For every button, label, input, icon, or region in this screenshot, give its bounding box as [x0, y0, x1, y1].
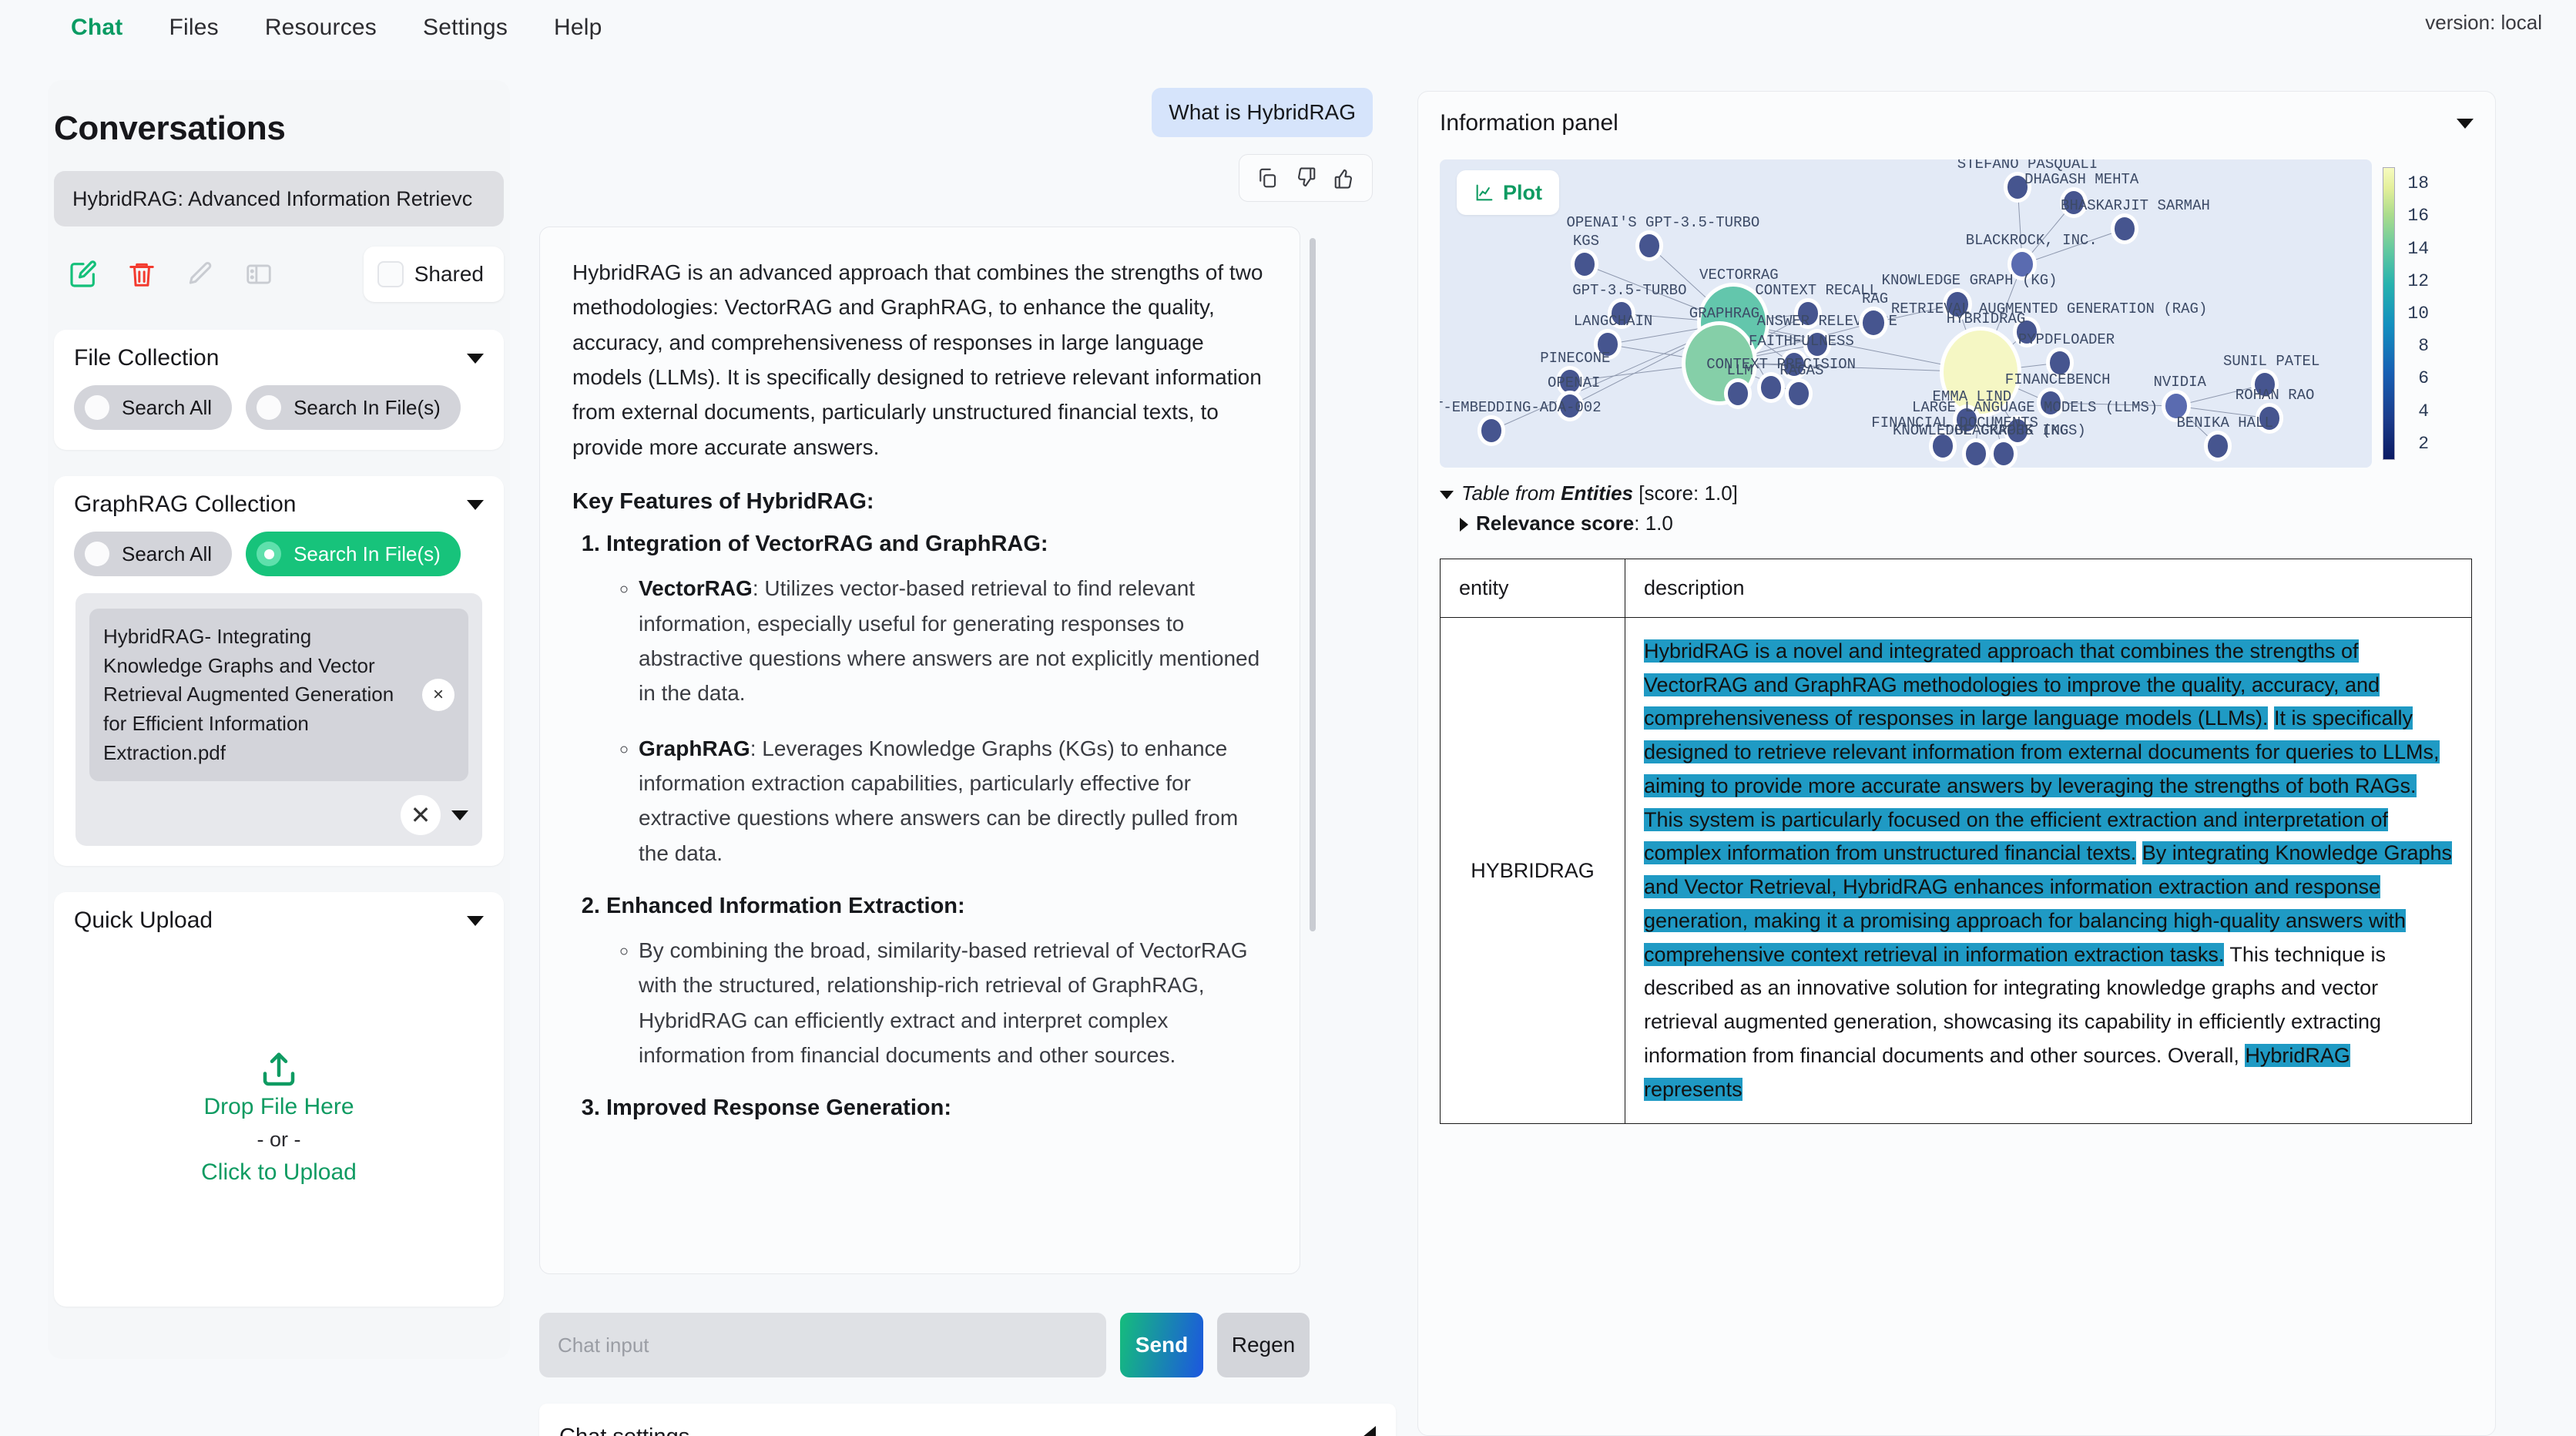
list-item: GraphRAG: Leverages Knowledge Graphs (KG… [639, 731, 1267, 871]
plot-button[interactable]: Plot [1457, 170, 1559, 215]
graph-node-label: PINECONE [1540, 350, 1610, 367]
colorbar-tick-label: 4 [2418, 401, 2429, 421]
radio-dot-icon [85, 395, 109, 420]
remove-file-button[interactable]: × [422, 679, 454, 711]
graph-node[interactable] [1863, 310, 1884, 335]
chevron-left-icon[interactable] [1363, 1426, 1376, 1436]
sub-bold-label: GraphRAG [639, 736, 750, 760]
thumbs-up-icon[interactable] [1327, 161, 1361, 195]
quick-upload-title: Quick Upload [74, 908, 213, 934]
radio-dot-icon [257, 542, 281, 566]
graph-node[interactable] [1575, 253, 1595, 275]
feature-sublist: By combining the broad, similarity-based… [639, 933, 1267, 1072]
graphrag-search-in-files[interactable]: Search In File(s) [246, 532, 461, 576]
graph-node-label: OPENAI'S GPT-3.5-TURBO [1566, 214, 1759, 231]
file-collection-search-all-label: Search All [122, 396, 212, 420]
graph-node-label: SUNIL PATEL [2223, 353, 2319, 370]
graph-node-label: BENIKA HALL [2176, 414, 2272, 431]
selected-file-chip[interactable]: HybridRAG- Integrating Knowledge Graphs … [89, 609, 468, 781]
graph-node-label: RETRIEVAL AUGMENTED GENERATION (RAG) [1891, 300, 2207, 317]
file-collection-search-in-files[interactable]: Search In File(s) [246, 385, 461, 430]
graph-node[interactable] [1728, 382, 1748, 404]
list-item: Enhanced Information Extraction: By comb… [606, 894, 1267, 1072]
graphrag-search-in-files-label: Search In File(s) [293, 542, 441, 566]
graph-node[interactable] [1481, 419, 1501, 441]
relevance-score-label: Relevance score [1476, 512, 1634, 535]
colorbar-tick-label: 16 [2407, 206, 2429, 226]
plain-text [2136, 841, 2142, 864]
assistant-features-heading: Key Features of HybridRAG: [572, 489, 1267, 515]
file-collection-card: File Collection Search All Search In Fil… [54, 330, 504, 450]
send-button[interactable]: Send [1120, 1313, 1203, 1377]
chat-input[interactable] [539, 1313, 1106, 1377]
quick-upload-header[interactable]: Quick Upload [74, 908, 484, 934]
assistant-feature-list: Integration of VectorRAG and GraphRAG: V… [606, 532, 1267, 1121]
entities-table-body: HYBRIDRAGHybridRAG is a novel and integr… [1441, 618, 2472, 1124]
plain-text [2268, 706, 2274, 730]
assistant-message: HybridRAG is an advanced approach that c… [539, 226, 1300, 1274]
click-to-upload-link[interactable]: Click to Upload [201, 1159, 357, 1186]
nav-item-files[interactable]: Files [146, 15, 241, 41]
conversation-toolbar: Shared [54, 245, 504, 304]
column-header-entity: entity [1441, 559, 1625, 618]
graph-node-label: HYBRIDRAG [1947, 310, 2026, 327]
graph-node-label: ROHAN RAO [2236, 387, 2315, 404]
assistant-intro: HybridRAG is an advanced approach that c… [572, 255, 1267, 465]
colorbar-tick-label: 8 [2418, 336, 2429, 356]
graph-node-label: LANGCHAIN [1574, 313, 1653, 330]
chevron-down-icon[interactable] [451, 810, 468, 820]
graph-node-label: LARGE LANGUAGE MODELS (LLMS) [1912, 399, 2158, 416]
information-panel-header[interactable]: Information panel [1440, 110, 2474, 136]
feature-title: Improved Response Generation: [606, 1095, 951, 1120]
regen-button[interactable]: Regen [1217, 1313, 1310, 1377]
information-panel-title: Information panel [1440, 110, 1618, 136]
chat-settings-label: Chat settings [559, 1424, 689, 1436]
list-item: Integration of VectorRAG and GraphRAG: V… [606, 532, 1267, 871]
nav-item-resources[interactable]: Resources [242, 15, 400, 41]
colorbar-tick-label: 12 [2407, 271, 2429, 291]
plot-icon [1474, 182, 1495, 203]
list-item: Improved Response Generation: [606, 1095, 1267, 1121]
graphrag-collection-card: GraphRAG Collection Search All Search In… [54, 476, 504, 866]
graphrag-collection-options: Search All Search In File(s) [74, 532, 484, 576]
graph-node-label: PYPDFLOADER [2018, 331, 2115, 348]
graph-node-label: GPT-3.5-TURBO [1572, 282, 1686, 299]
file-collection-search-in-files-label: Search In File(s) [293, 396, 441, 420]
list-item: VectorRAG: Utilizes vector-based retriev… [639, 571, 1267, 710]
chat-input-row: Send Regen [539, 1313, 1310, 1377]
thumbs-down-icon[interactable] [1289, 161, 1323, 195]
file-collection-options: Search All Search In File(s) [74, 385, 484, 430]
graph-node-label: BLACKROCK, INC. [1966, 232, 2098, 249]
chat-settings-panel[interactable]: Chat settings [539, 1404, 1396, 1436]
graph-node[interactable] [2050, 351, 2070, 374]
entity-cell: HYBRIDRAG [1441, 618, 1625, 1124]
graph-node-label: FINANCEBENCH [2005, 371, 2111, 388]
shared-toggle[interactable]: Shared [364, 247, 504, 302]
drop-file-label: Drop File Here [203, 1094, 354, 1120]
table-source-line[interactable]: Table from Entities [score: 1.0] [1440, 481, 2474, 505]
graph-node-label: KNOWLEDGE GRAPH (KG) [1882, 272, 2058, 289]
colorbar [2383, 167, 2395, 460]
delete-chat-button[interactable] [112, 245, 171, 304]
upload-or-label: - or - [257, 1128, 301, 1152]
table-header-row: entity description [1441, 559, 2472, 618]
colorbar-tick-label: 2 [2418, 434, 2429, 454]
nav-item-settings[interactable]: Settings [400, 15, 531, 41]
graph-node-label: NVIDIA [2154, 374, 2206, 391]
selected-file-name: HybridRAG- Integrating Knowledge Graphs … [103, 622, 413, 767]
graph-node-label: DHAGASH MEHTA [2024, 171, 2138, 188]
graph-node[interactable] [1966, 442, 1986, 465]
table-row: HYBRIDRAGHybridRAG is a novel and integr… [1441, 618, 2472, 1124]
chevron-down-icon[interactable] [2457, 119, 2474, 129]
message-actions-toolbar [1239, 154, 1373, 202]
relevance-score-line[interactable]: Relevance score: 1.0 [1440, 512, 2474, 535]
selected-files-footer: ✕ [89, 795, 468, 835]
chat-scrollbar[interactable] [1310, 238, 1316, 931]
colorbar-tick-label: 10 [2407, 304, 2429, 324]
sidebar: Conversations HybridRAG: Advanced Inform… [48, 80, 510, 1359]
nav-item-chat[interactable]: Chat [48, 15, 146, 41]
selected-files-box: HybridRAG- Integrating Knowledge Graphs … [75, 593, 482, 846]
column-header-description: description [1625, 559, 2472, 618]
information-panel: Information panel STEFANO PASQUALIDHAGAS… [1417, 91, 2496, 1436]
file-collection-search-all[interactable]: Search All [74, 385, 232, 430]
table-from-source: Entities [1561, 481, 1633, 505]
description-cell: HybridRAG is a novel and integrated appr… [1625, 618, 2472, 1124]
graph-node-label: LLM [1727, 362, 1753, 379]
graph-node-label: BHASKARJIT SARMAH [2061, 197, 2210, 214]
colorbar-tick-label: 14 [2407, 239, 2429, 259]
app-root: Chat Files Resources Settings Help versi… [0, 0, 2576, 1436]
graph-node-label: VECTORRAG [1699, 267, 1779, 284]
graph-node-label: TEXT-EMBEDDING-ADA-002 [1440, 399, 1602, 416]
clear-all-files-button[interactable]: ✕ [401, 795, 441, 835]
file-dropzone[interactable]: Drop File Here - or - Click to Upload [74, 948, 484, 1287]
graphrag-search-all[interactable]: Search All [74, 532, 232, 576]
graph-node-label: RAGAS [1779, 362, 1823, 379]
colorbar-tick-label: 18 [2407, 173, 2429, 193]
list-item: By combining the broad, similarity-based… [639, 933, 1267, 1072]
graph-node-label: RAG [1862, 290, 1888, 307]
graph-node[interactable] [1789, 382, 1809, 404]
file-collection-title: File Collection [74, 345, 219, 371]
radio-dot-icon [257, 395, 281, 420]
graph-node[interactable] [1639, 234, 1659, 257]
radio-dot-icon [85, 542, 109, 566]
shared-checkbox[interactable] [377, 261, 404, 287]
page-title: Conversations [48, 80, 510, 148]
table-from-prefix: Table from [1461, 481, 1561, 505]
top-nav: Chat Files Resources Settings Help versi… [0, 0, 2576, 55]
nav-item-help[interactable]: Help [531, 15, 626, 41]
chat-column: What is HybridRAG HybridRAG is an advanc… [539, 80, 1387, 1436]
feature-title: Integration of VectorRAG and GraphRAG: [606, 532, 1048, 556]
graph-node[interactable] [2115, 217, 2135, 240]
graph-plot-wrapper: STEFANO PASQUALIDHAGASH MEHTABHASKARJIT … [1440, 159, 2472, 468]
chevron-down-icon[interactable] [1440, 491, 1454, 499]
graph-node[interactable] [1761, 376, 1781, 398]
quick-upload-card: Quick Upload Drop File Here - or - Click… [54, 892, 504, 1307]
split-view-button[interactable] [230, 245, 288, 304]
graph-node-label: GRAPHRAG [1689, 305, 1759, 322]
upload-icon [258, 1049, 300, 1091]
chevron-right-icon[interactable] [1460, 518, 1468, 532]
graph-node-label: FAITHFULNESS [1749, 333, 1854, 350]
graph-node-label: BLACKROCK INC [1954, 422, 2068, 439]
feature-title: Enhanced Information Extraction: [606, 894, 965, 918]
user-message-bubble: What is HybridRAG [1152, 88, 1373, 137]
graph-node-label: KGS [1573, 233, 1599, 250]
chevron-down-icon[interactable] [467, 916, 484, 926]
graphrag-collection-title: GraphRAG Collection [74, 492, 296, 518]
table-from-score: [score: 1.0] [1633, 481, 1738, 505]
knowledge-graph-plot[interactable]: STEFANO PASQUALIDHAGASH MEHTABHASKARJIT … [1440, 159, 2372, 468]
sub-bold-label: VectorRAG [639, 576, 753, 600]
feature-sublist: VectorRAG: Utilizes vector-based retriev… [639, 571, 1267, 871]
shared-label: Shared [414, 262, 484, 287]
rename-chat-button[interactable] [171, 245, 230, 304]
graphrag-collection-header[interactable]: GraphRAG Collection [74, 492, 484, 518]
colorbar-tick-label: 6 [2418, 368, 2429, 388]
graph-node[interactable] [1994, 442, 2014, 465]
copy-icon[interactable] [1250, 161, 1284, 195]
chevron-down-icon[interactable] [467, 354, 484, 364]
relevance-score-value: : 1.0 [1634, 512, 1673, 535]
graph-node-label: CONTEXT RECALL [1755, 282, 1878, 299]
file-collection-header[interactable]: File Collection [74, 345, 484, 371]
sub-text: By combining the broad, similarity-based… [639, 938, 1248, 1067]
table-fade-mask [1440, 1420, 2472, 1435]
graph-node[interactable] [2208, 434, 2228, 457]
conversation-list-item[interactable]: HybridRAG: Advanced Information Retrievc [54, 171, 504, 226]
plot-button-label: Plot [1503, 181, 1542, 205]
graphrag-search-all-label: Search All [122, 542, 212, 566]
chevron-down-icon[interactable] [467, 500, 484, 510]
version-label: version: local [2425, 11, 2542, 35]
graph-node-label: OPENAI [1548, 374, 1600, 391]
entities-table: entity description HYBRIDRAGHybridRAG is… [1440, 559, 2472, 1124]
new-chat-button[interactable] [54, 245, 112, 304]
